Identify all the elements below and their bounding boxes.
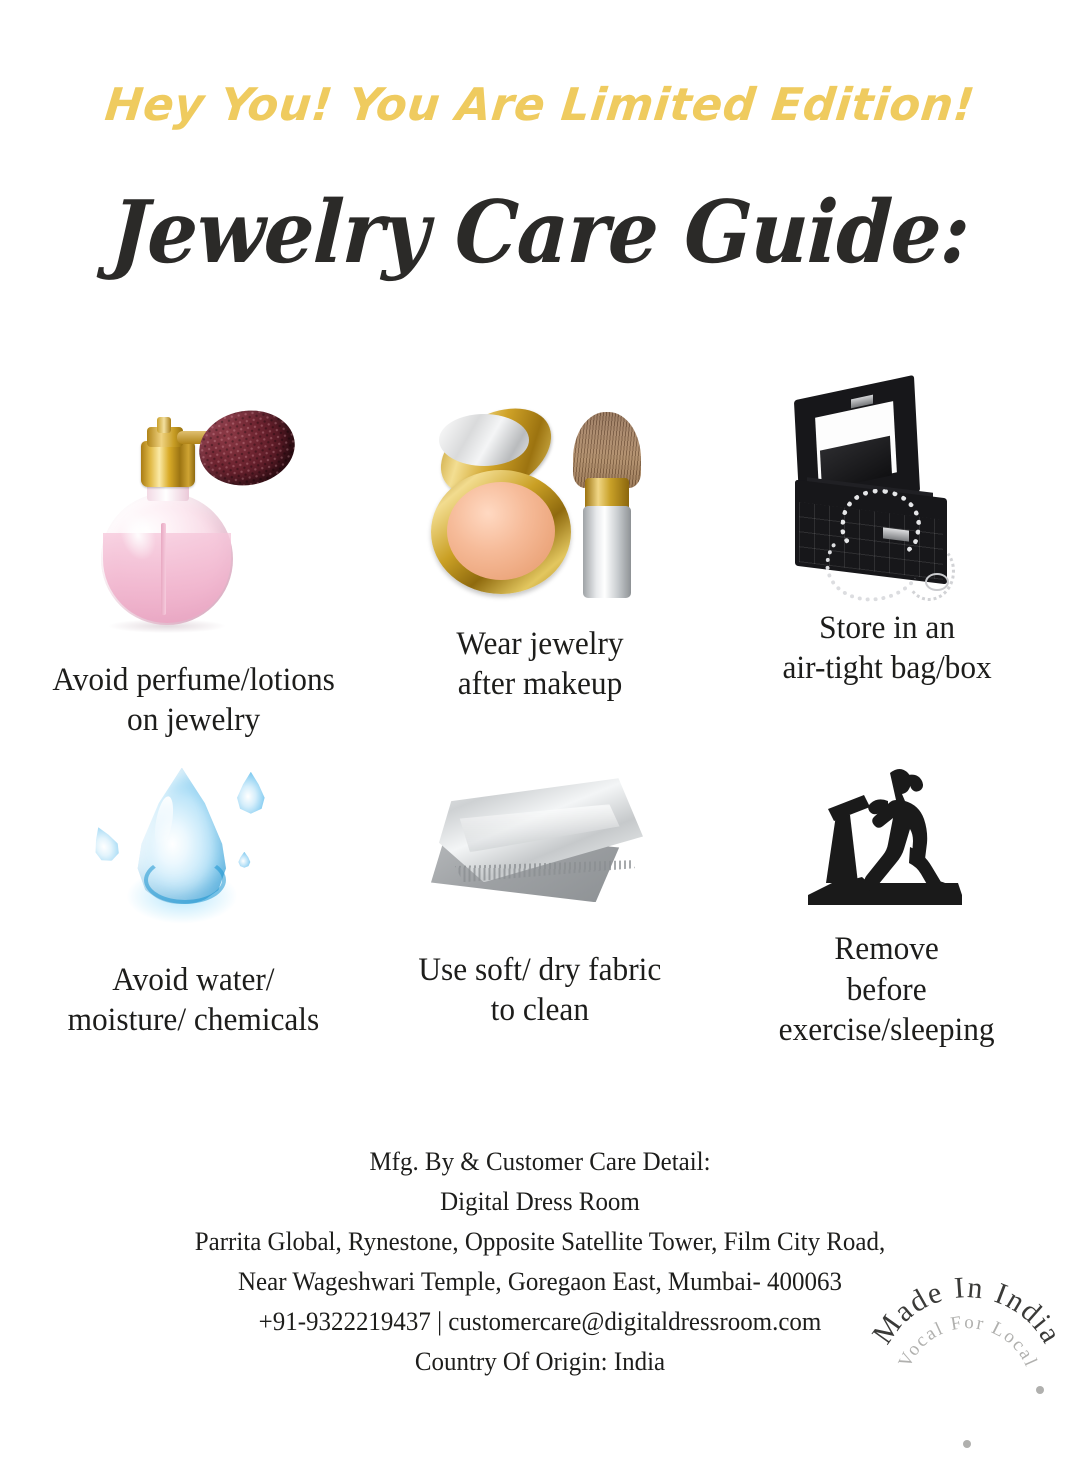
footer-line: Mfg. By & Customer Care Detail: [22,1142,1059,1182]
care-tip-remove-before-exercise: Remove before exercise/sleeping [713,740,1060,1050]
polishing-cloth-icon [367,740,714,950]
care-tip-caption: Remove before exercise/sleeping [779,929,995,1050]
care-tip-avoid-perfume: Avoid perfume/lotions on jewelry [20,380,367,740]
care-tips-grid: Avoid perfume/lotions on jewelry Wear je… [20,380,1060,1050]
badge-dot-icon [1036,1386,1044,1394]
makeup-compact-brush-icon [367,380,714,624]
care-tip-caption: Use soft/ dry fabric to clean [419,950,662,1051]
care-guide-page: Hey You! You Are Limited Edition! Jewelr… [0,0,1080,1440]
jewelry-box-icon [713,380,1060,608]
care-tip-caption: Store in an air-tight bag/box [782,608,991,741]
care-tip-caption: Avoid water/ moisture/ chemicals [68,960,320,1051]
footer-line: Digital Dress Room [22,1182,1059,1222]
footer-line: Parrita Global, Rynestone, Opposite Sate… [22,1222,1059,1262]
page-title: Jewelry Care Guide: [41,188,1039,278]
made-in-india-badge: Made In India Vocal For Local [872,1262,1062,1452]
treadmill-runner-icon [713,740,1060,929]
badge-dot-icon [963,1440,971,1448]
water-droplet-icon [20,740,367,960]
tagline: Hey You! You Are Limited Edition! [0,78,1080,131]
care-tip-avoid-water: Avoid water/ moisture/ chemicals [20,740,367,1050]
badge-outer-label: Made In India [866,1271,1069,1350]
care-tip-caption: Avoid perfume/lotions on jewelry [52,660,334,741]
care-tip-caption: Wear jewelry after makeup [456,624,623,741]
care-tip-use-soft-fabric: Use soft/ dry fabric to clean [367,740,714,1050]
perfume-bottle-icon [20,380,367,660]
care-tip-wear-after-makeup: Wear jewelry after makeup [367,380,714,740]
care-tip-store-airtight: Store in an air-tight bag/box [713,380,1060,740]
